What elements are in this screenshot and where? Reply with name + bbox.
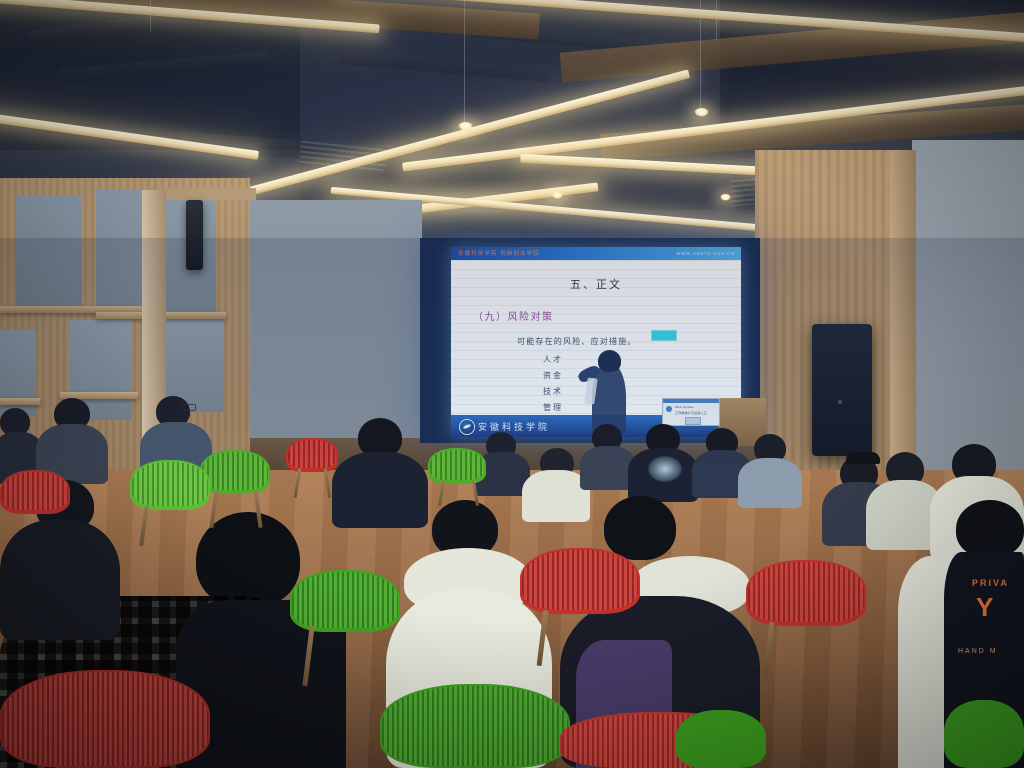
jacket-text-hand: HAND M [958,648,998,655]
ceiling-downlight-2 [694,108,709,117]
audience-body-b6 [738,458,802,508]
audience-head-m3 [604,496,676,560]
monitor-line-2: 工作量统计与反馈入口 [675,411,707,415]
chair-red-mid-1-slats [522,550,638,610]
light-wire-4 [150,0,151,32]
ceiling-downlight-3 [552,192,563,199]
presenter-head [598,350,621,372]
monitor-ok-button[interactable] [685,417,701,425]
floor-speaker-right [812,324,872,456]
slide-footer-org: 安徽科技学院 [478,420,550,433]
chair-red-front-1-slats [2,672,208,766]
audience-head-f3 [956,500,1024,558]
wall-panel-left-1 [16,196,82,306]
chair-green-mid-1-slats [292,572,398,628]
chair-green-left-1-slats [202,452,268,490]
cap-r1 [846,452,880,464]
university-logo-icon [459,419,475,435]
control-monitor: Web Update 工作量统计与反馈入口 [662,398,720,426]
slide-title: 五、正文 [451,276,741,292]
jacket-logo-y: Y [976,594,993,620]
ceiling-downlight-1 [458,122,473,131]
slide-lead-line: 可能存在的风险、应对措施。 [517,336,637,347]
jacket-graphic-print [648,456,682,482]
slide-bullet-3: 技术 [543,386,563,397]
chair-green-front-2[interactable] [676,710,766,768]
glasses-icon-l3 [182,404,196,411]
slide-bullet-2: 资金 [543,370,563,381]
monitor-info-icon [666,406,672,412]
chair-green-left-2-slats [132,462,208,506]
light-wire-3 [716,0,717,40]
logo-swoosh-icon [463,424,472,430]
slide-bullet-4: 管理 [543,402,563,413]
light-wire-1 [464,0,465,124]
ceiling-downlight-4 [720,194,731,201]
slide-highlight-box [651,330,677,341]
chair-red-far-1-slats [288,440,336,468]
chair-red-left-1-slats [2,472,68,510]
wall-speaker-left [186,200,203,270]
slide-header-url: WWW.AHSTU.EDU.CN [676,251,735,256]
slide-header-bar: 安徽科技学院 创新创业学院 WWW.AHSTU.EDU.CN [451,247,741,260]
slide-subtitle: （九）风险对策 [473,308,554,323]
wall-trim-left [166,188,256,200]
slide-header-org: 安徽科技学院 创新创业学院 [458,249,540,257]
audience-body-m1 [332,452,428,528]
chair-red-mid-2-slats [748,562,864,622]
jacket-text-priva: PRIVA [972,578,1009,588]
chair-green-far-1-slats [430,450,484,480]
slide-bullet-1: 人才 [543,354,563,365]
floor-speaker-led [838,400,842,404]
chair-green-right-1[interactable] [944,700,1024,768]
audience-body-f2 [0,520,120,640]
monitor-line-1: Web Update [675,405,694,409]
lecture-hall-photo: 安徽科技学院 创新创业学院 WWW.AHSTU.EDU.CN 五、正文 （九）风… [0,0,1024,768]
monitor-title-bar [663,399,719,403]
chair-green-front-1-slats [382,686,568,766]
shelf-left-lower-a [0,398,40,405]
